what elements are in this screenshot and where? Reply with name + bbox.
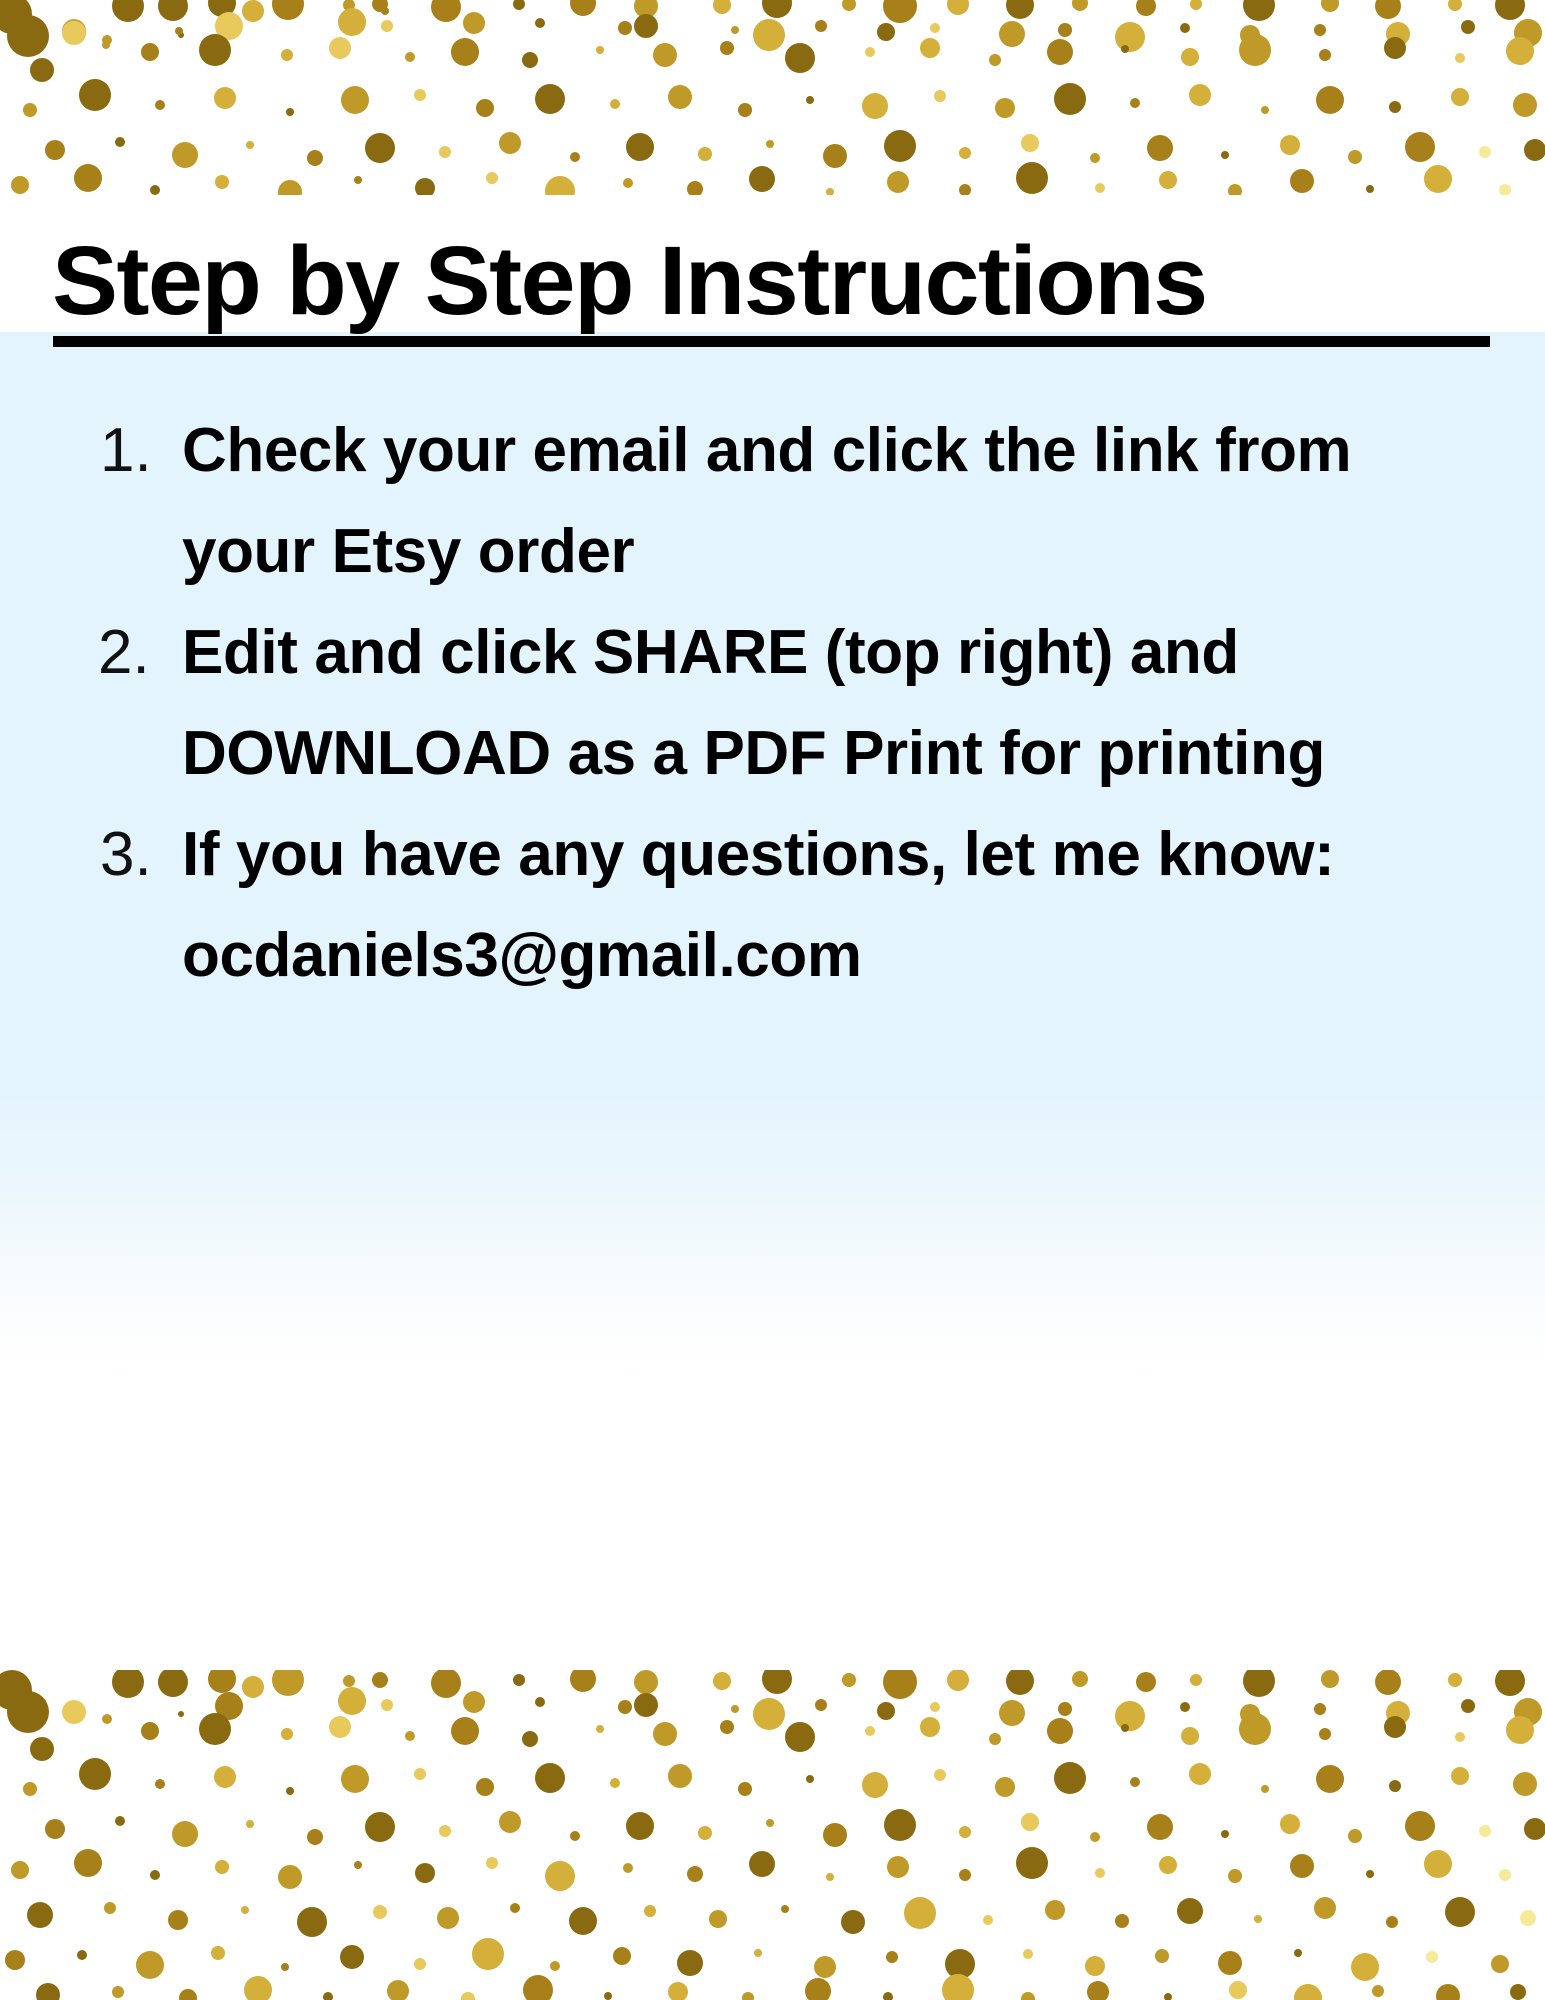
- page-title-underline: [53, 336, 1490, 347]
- confetti-border-bottom: [0, 1670, 1545, 2000]
- list-item: 1. Check your email and click the link f…: [0, 400, 1545, 602]
- list-item-number: 3.: [100, 804, 176, 905]
- page-title-group: Step by Step Instructions: [0, 225, 1545, 350]
- instructions-page: Step by Step Instructions 1. Check your …: [0, 0, 1545, 2000]
- list-item-text: Check your email and click the link from…: [182, 400, 1462, 602]
- page-title: Step by Step Instructions: [52, 225, 1207, 337]
- confetti-border-top: [0, 0, 1545, 195]
- list-item-number: 1.: [100, 400, 176, 501]
- list-item-number: 2.: [98, 602, 174, 703]
- list-item: 3. If you have any questions, let me kno…: [0, 804, 1545, 1006]
- instructions-list: 1. Check your email and click the link f…: [0, 400, 1545, 1006]
- list-item-text: If you have any questions, let me know: …: [182, 804, 1462, 1006]
- list-item-text: Edit and click SHARE (top right) and DOW…: [182, 602, 1462, 804]
- list-item: 2. Edit and click SHARE (top right) and …: [0, 602, 1545, 804]
